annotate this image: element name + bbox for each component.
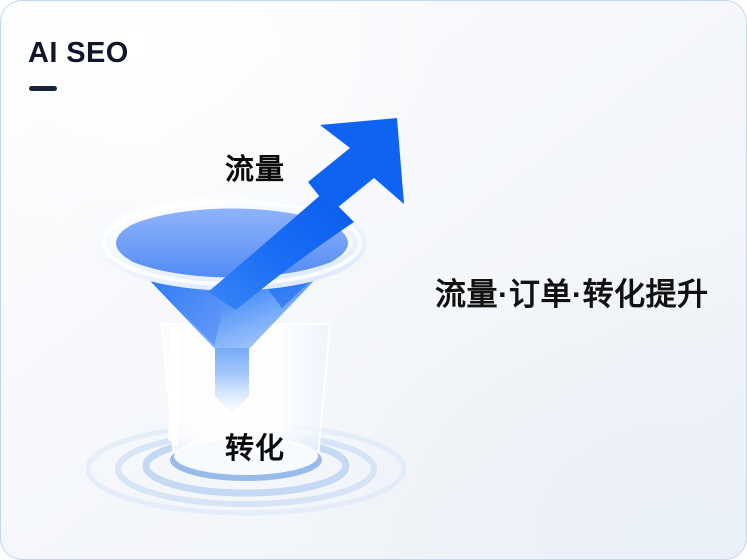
poster-canvas: AI SEO 流量·订单·转化提升 [0, 0, 747, 560]
title-underline-rule [29, 86, 57, 91]
page-title: AI SEO [28, 39, 129, 68]
tagline-text: 流量·订单·转化提升 [435, 277, 709, 313]
label-conversion: 转化 [225, 435, 285, 464]
label-traffic: 流量 [225, 156, 285, 185]
